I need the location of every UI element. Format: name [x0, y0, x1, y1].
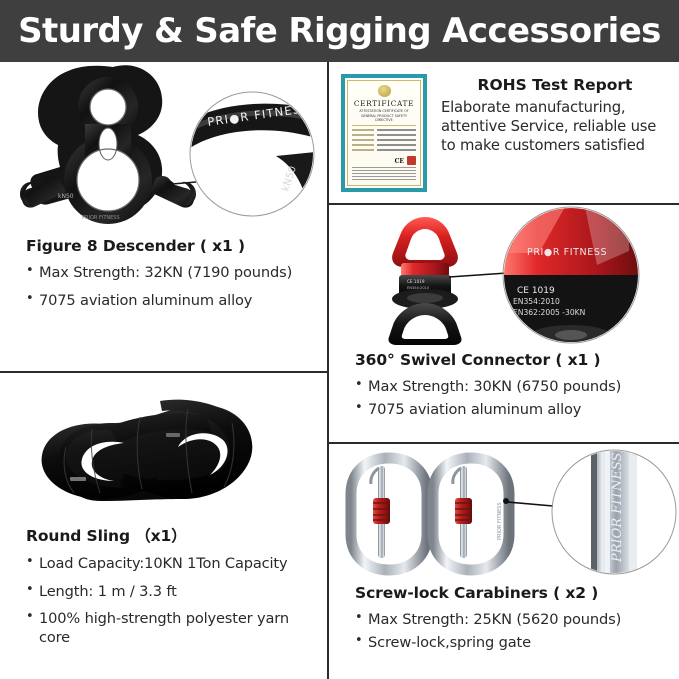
rohs-certificate-image: CERTIFICATE ATTESTATION CERTIFICATE OF G… [341, 74, 427, 192]
panel-round-sling: Round Sling （x1） Load Capacity:10KN 1Ton… [0, 373, 327, 679]
screw-lock-carabiner-photo: PRIOR FITNESS PRIOR FITNESS [329, 444, 679, 580]
svg-text:CE 1019: CE 1019 [407, 279, 425, 284]
rohs-body-text: Elaborate manufacturing, attentive Servi… [441, 98, 669, 156]
list-item: Max Strength: 30KN (6750 pounds) [355, 378, 669, 397]
carabiner-engraving: PRIOR FITNESS [497, 502, 503, 540]
rohs-title: ROHS Test Report [441, 76, 669, 94]
swivel-connector-photo: CE 1019 EN354:2010 EN362:2005 -30KN [329, 205, 679, 345]
figure-8-title: Figure 8 Descender ( x1 ) [26, 237, 317, 255]
header-banner: Sturdy & Safe Rigging Accessories [0, 0, 679, 62]
swivel-text-block: 360° Swivel Connector ( x1 ) Max Strengt… [329, 351, 679, 419]
panel-rohs-test-report: CERTIFICATE ATTESTATION CERTIFICATE OF G… [329, 64, 679, 203]
figure-8-image: kN50 PRIOR FITNESS PRI●R FITNESS kN50 [0, 64, 327, 229]
magnified-brand-text: PRI●R FITNESS [527, 247, 607, 258]
infographic-root: Sturdy & Safe Rigging Accessories [0, 0, 679, 679]
list-item: Max Strength: 32KN (7190 pounds) [26, 264, 317, 283]
magnified-engraving-text: PRIOR FITNESS [610, 452, 625, 563]
callout-leader-line [172, 182, 196, 184]
certificate-seal-icon [378, 85, 391, 97]
figure-8-descender-vector: kN50 PRIOR FITNESS PRI●R FITNESS kN50 [0, 64, 327, 229]
figure-8-text-block: Figure 8 Descender ( x1 ) Max Strength: … [0, 237, 327, 310]
swivel-title: 360° Swivel Connector ( x1 ) [355, 351, 669, 369]
sling-text-block: Round Sling （x1） Load Capacity:10KN 1Ton… [0, 524, 327, 648]
magnified-en362-text: EN362:2005 -30KN [513, 308, 585, 317]
carabiner-title: Screw-lock Carabiners ( x2 ) [355, 584, 669, 602]
figure8-engraving-small: kN50 [58, 193, 74, 200]
carabiner-bullets: Max Strength: 25KN (5620 pounds) Screw-l… [355, 611, 669, 652]
swivel-red-barrel [401, 263, 449, 277]
panel-figure-8-descender: kN50 PRIOR FITNESS PRI●R FITNESS kN50 [0, 64, 327, 371]
callout-leader-line [449, 273, 507, 277]
list-item: 100% high-strength polyester yarn core [26, 610, 317, 647]
magnifier-content: PRI●R FITNESS CE 1019 EN354:2010 EN362:2… [503, 207, 639, 345]
magnifier-content: PRI●R FITNESS kN50 [190, 92, 316, 216]
carabiner-2: PRIOR FITNESS [433, 458, 509, 570]
sling-title: Round Sling （x1） [26, 524, 317, 546]
list-item: Length: 1 m / 3.3 ft [26, 583, 317, 602]
certificate-heading: CERTIFICATE [354, 99, 414, 108]
ce-mark-label: CE [395, 158, 404, 165]
page-title: Sturdy & Safe Rigging Accessories [18, 11, 661, 51]
figure8-engraving-brand: PRIOR FITNESS [82, 215, 120, 221]
sling-bullets: Load Capacity:10KN 1Ton Capacity Length:… [26, 555, 317, 648]
list-item: Load Capacity:10KN 1Ton Capacity [26, 555, 317, 574]
swivel-bullets: Max Strength: 30KN (6750 pounds) 7075 av… [355, 378, 669, 419]
magnified-en354-text: EN354:2010 [513, 297, 560, 306]
panel-swivel-connector: CE 1019 EN354:2010 EN362:2005 -30KN [329, 205, 679, 442]
certificate-subheading: ATTESTATION CERTIFICATE OF GENERAL PRODU… [352, 109, 416, 122]
list-item: 7075 aviation aluminum alloy [26, 292, 317, 311]
panel-screw-lock-carabiners: PRIOR FITNESS PRIOR FITNESS Screw-lock C… [329, 444, 679, 679]
list-item: 7075 aviation aluminum alloy [355, 401, 669, 420]
magnified-ce-text: CE 1019 [517, 286, 555, 296]
figure-8-bullets: Max Strength: 32KN (7190 pounds) 7075 av… [26, 264, 317, 310]
carabiner-1 [351, 458, 427, 570]
round-sling-photo [0, 373, 327, 518]
certification-logo-icon [407, 156, 416, 165]
carabiner-text-block: Screw-lock Carabiners ( x2 ) Max Strengt… [329, 584, 679, 652]
list-item: Screw-lock,spring gate [355, 634, 669, 653]
list-item: Max Strength: 25KN (5620 pounds) [355, 611, 669, 630]
